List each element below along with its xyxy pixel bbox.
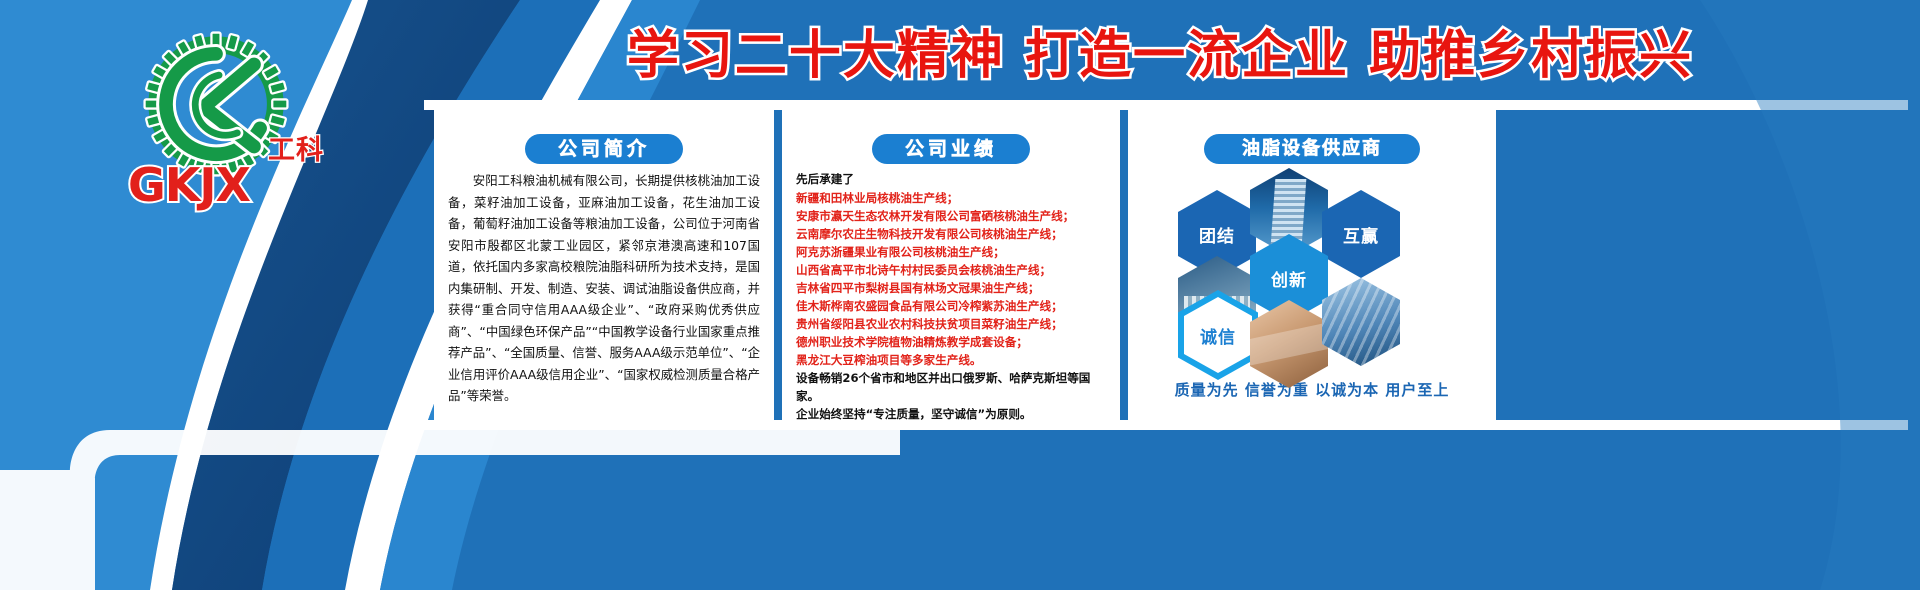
list-item: 贵州省绥阳县农业农村科技扶贫项目菜籽油生产线；: [796, 315, 1106, 333]
list-item: 山西省高平市北诗午村村民委员会核桃油生产线；: [796, 261, 1106, 279]
list-item: 新疆和田林业局核桃油生产线；: [796, 189, 1106, 207]
hex-huying: 互赢: [1322, 190, 1400, 278]
list-item: 佳木斯桦南农盛园食品有限公司冷榨紫苏油生产线；: [796, 297, 1106, 315]
list-item: 安康市瀛天生态农林开发有限公司富硒核桃油生产线；: [796, 207, 1106, 225]
hex-label: 互赢: [1343, 222, 1379, 247]
logo-cn-name: 工科: [268, 128, 324, 167]
list-item: 阿克苏浙疆果业有限公司核桃油生产线；: [796, 243, 1106, 261]
achievements-list: 新疆和田林业局核桃油生产线； 安康市瀛天生态农林开发有限公司富硒核桃油生产线； …: [796, 189, 1106, 369]
achievements-footer-line-1: 设备畅销26个省市和地区并出口俄罗斯、哈萨克斯坦等国家。: [796, 369, 1106, 405]
logo-latin-name: GKJX: [128, 158, 250, 212]
panel-title-achievements: 公司业绩: [872, 134, 1030, 164]
list-item: 云南摩尔农庄生物科技开发有限公司核桃油生产线；: [796, 225, 1106, 243]
list-item: 德州职业技术学院植物油精炼教学成套设备；: [796, 333, 1106, 351]
list-item: 黑龙江大豆榨油项目等多家生产线。: [796, 351, 1106, 369]
panel-company-achievements: 公司业绩 先后承建了 新疆和田林业局核桃油生产线； 安康市瀛天生态农林开发有限公…: [782, 110, 1120, 420]
hexagon-cluster: 团结 互赢 创新 诚信: [1142, 170, 1482, 375]
banner-headline: 学习二十大精神 打造一流企业 助推乡村振兴: [420, 22, 1900, 90]
hex-label: 创新: [1271, 266, 1307, 291]
hex-photo-hands: [1250, 300, 1328, 388]
company-logo: 工科 GKJX: [118, 28, 348, 218]
company-profile-text: 安阳工科粮油机械有限公司，长期提供核桃油加工设备，菜籽油加工设备，亚麻油加工设备…: [448, 170, 760, 407]
hex-label: 团结: [1199, 222, 1235, 247]
panel-supplier: 油脂设备供应商 团结 互赢 创新 诚信: [1128, 110, 1496, 420]
achievements-footer-line-2: 企业始终坚持“专注质量，坚守诚信”为原则。: [796, 405, 1106, 423]
hex-label: 诚信: [1200, 323, 1236, 348]
panel-title-supplier: 油脂设备供应商: [1204, 134, 1420, 164]
panel-title-profile: 公司简介: [525, 134, 683, 164]
supplier-slogan: 质量为先 信誉为重 以诚为本 用户至上: [1142, 379, 1482, 400]
list-item: 吉林省四平市梨树县国有林场文冠果油生产线；: [796, 279, 1106, 297]
content-panels: 公司简介 安阳工科粮油机械有限公司，长期提供核桃油加工设备，菜籽油加工设备，亚麻…: [434, 110, 1904, 420]
panel-company-profile: 公司简介 安阳工科粮油机械有限公司，长期提供核桃油加工设备，菜籽油加工设备，亚麻…: [434, 110, 774, 420]
hex-photo-glass: [1322, 278, 1400, 366]
achievements-intro: 先后承建了: [796, 170, 1106, 188]
